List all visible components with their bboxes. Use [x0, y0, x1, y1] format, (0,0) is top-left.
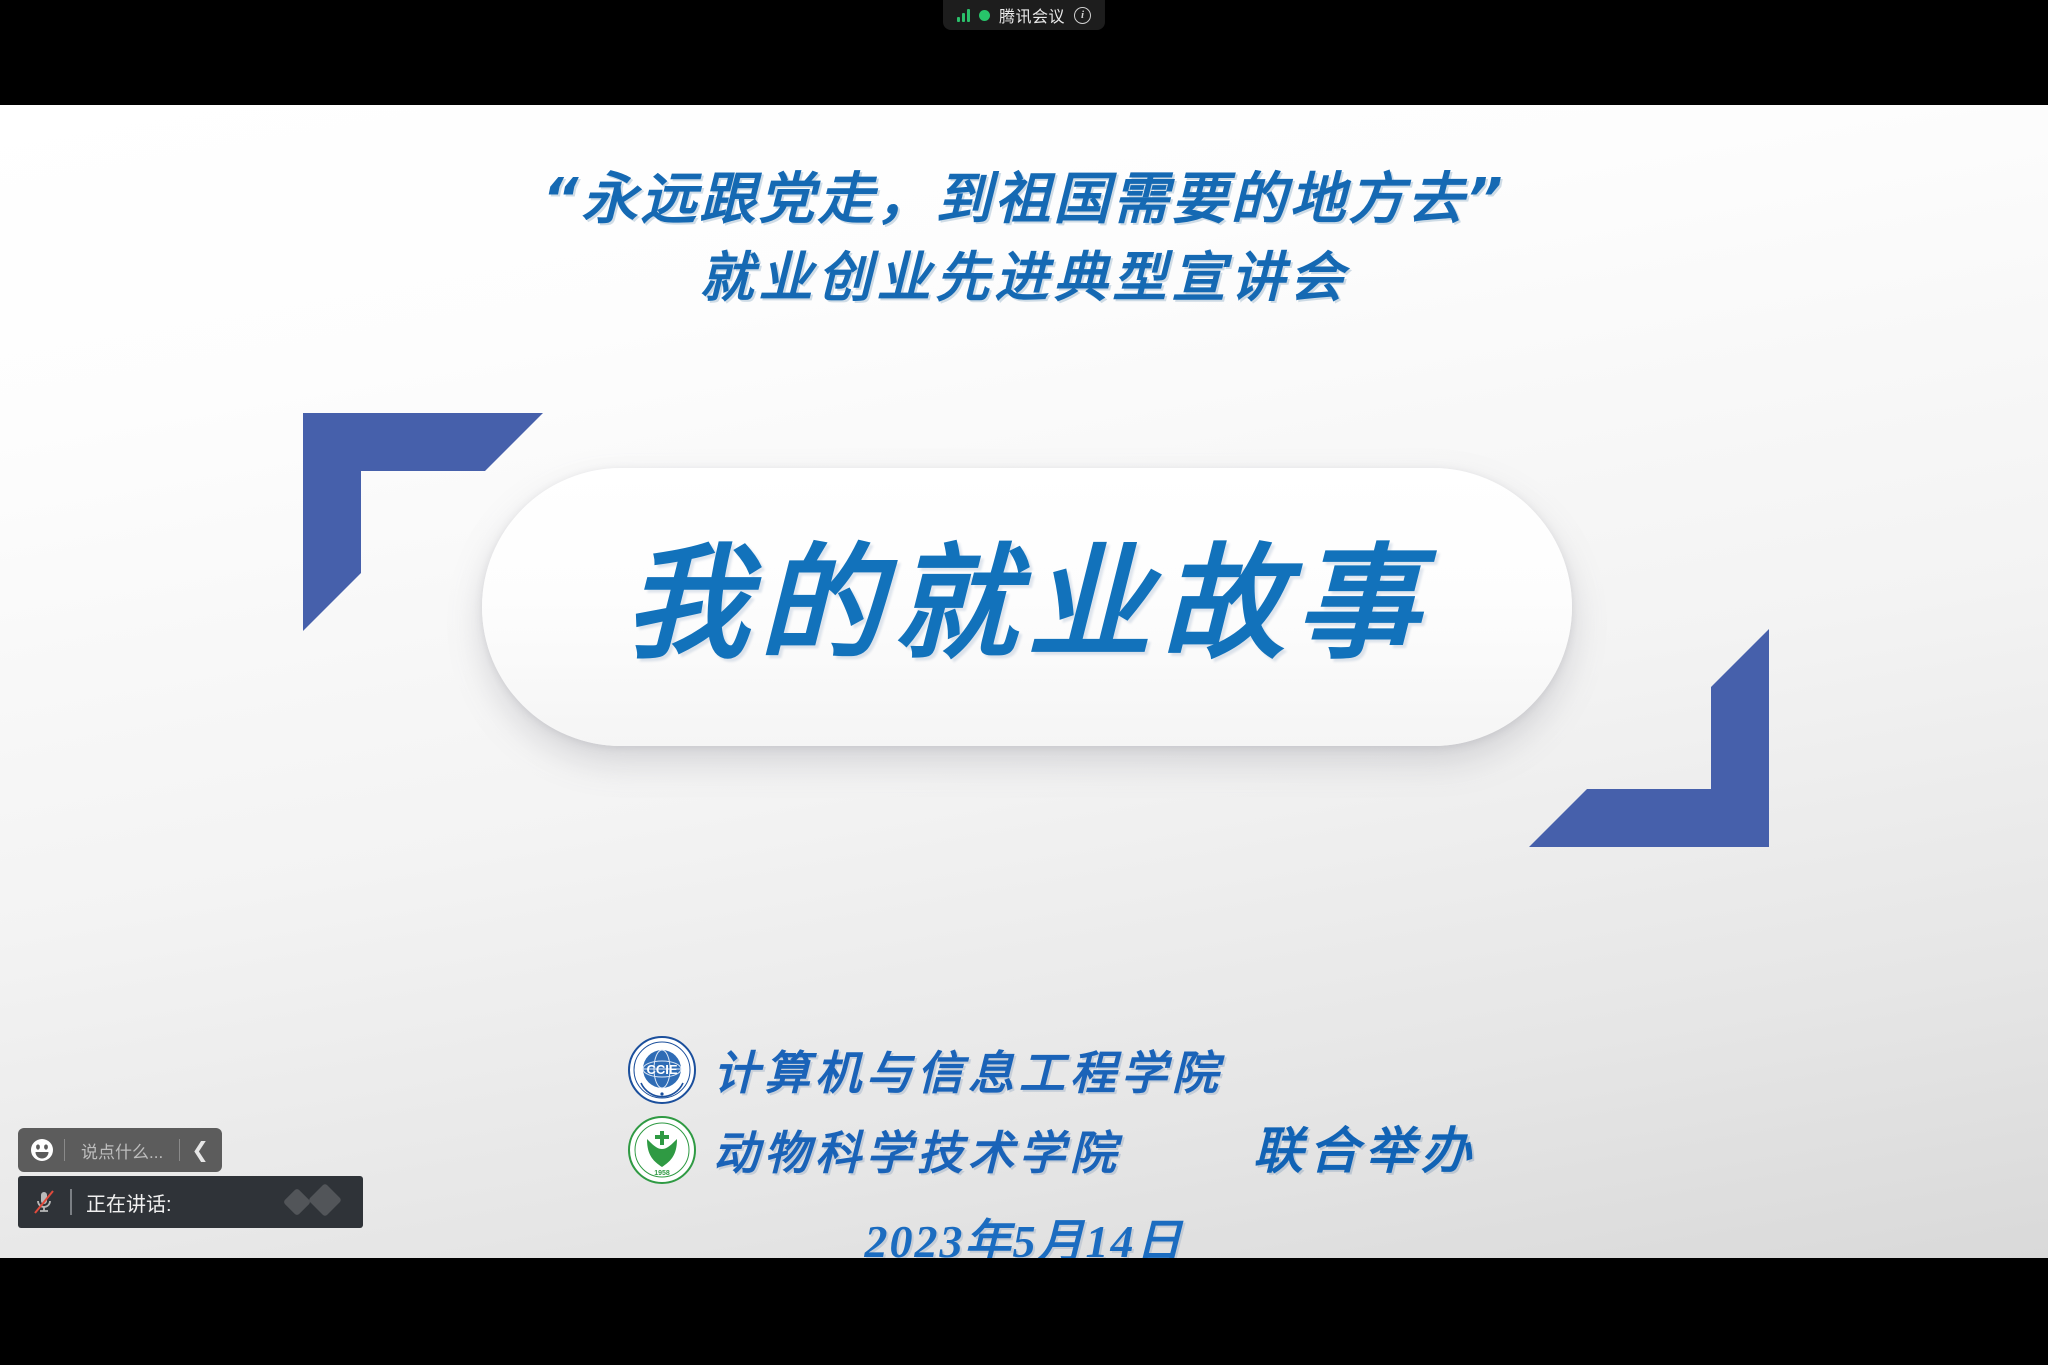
organizer-row-1: CCIE 计算机与信息工程学院: [627, 1033, 1223, 1107]
organizer-row-2: 1958 动物科学技术学院: [627, 1113, 1223, 1187]
slide-headline: “永远跟党走，到祖国需要的地方去” 就业创业先进典型宣讲会: [0, 160, 2048, 316]
meeting-screen: 腾讯会议 i “永远跟党走，到祖国需要的地方去” 就业创业先进典型宣讲会 我的就…: [0, 0, 2048, 1365]
info-icon[interactable]: i: [1074, 7, 1091, 24]
ccie-college-logo-icon: CCIE: [627, 1035, 697, 1105]
mic-muted-icon[interactable]: [18, 1188, 70, 1216]
chat-input-placeholder[interactable]: 说点什么...: [65, 1138, 179, 1163]
shared-slide: “永远跟党走，到祖国需要的地方去” 就业创业先进典型宣讲会 我的就业故事: [0, 105, 2048, 1258]
animal-science-college-logo-icon: 1958: [627, 1115, 697, 1185]
green-status-dot: [979, 10, 990, 21]
svg-text:CCIE: CCIE: [646, 1062, 677, 1077]
svg-text:1958: 1958: [654, 1170, 670, 1177]
meeting-watermark-icon: [283, 1183, 357, 1222]
organizer-list: CCIE 计算机与信息工程学院: [627, 1033, 1223, 1187]
chat-input-bar[interactable]: 说点什么... ❮: [18, 1128, 222, 1172]
emoji-icon[interactable]: [20, 1128, 64, 1172]
organizer-name-1: 计算机与信息工程学院: [713, 1037, 1223, 1103]
speaking-label: 正在讲话:: [72, 1188, 172, 1217]
meeting-name-label: 腾讯会议: [999, 3, 1065, 27]
slide-main-title: 我的就业故事: [482, 543, 1572, 667]
headline-line-2: 就业创业先进典型宣讲会: [0, 240, 2048, 317]
chevron-left-icon[interactable]: ❮: [180, 1128, 220, 1172]
headline-line-1: “永远跟党走，到祖国需要的地方去”: [0, 160, 2048, 240]
meeting-status-pill[interactable]: 腾讯会议 i: [943, 0, 1105, 30]
organizers-block: CCIE 计算机与信息工程学院: [627, 1033, 1477, 1187]
organizer-name-2: 动物科学技术学院: [713, 1117, 1121, 1183]
title-card: 我的就业故事: [482, 468, 1572, 746]
signal-bars-icon: [957, 8, 970, 22]
joint-host-label: 联合举办: [1253, 1111, 1477, 1183]
speaking-indicator-bar: 正在讲话:: [18, 1176, 363, 1228]
